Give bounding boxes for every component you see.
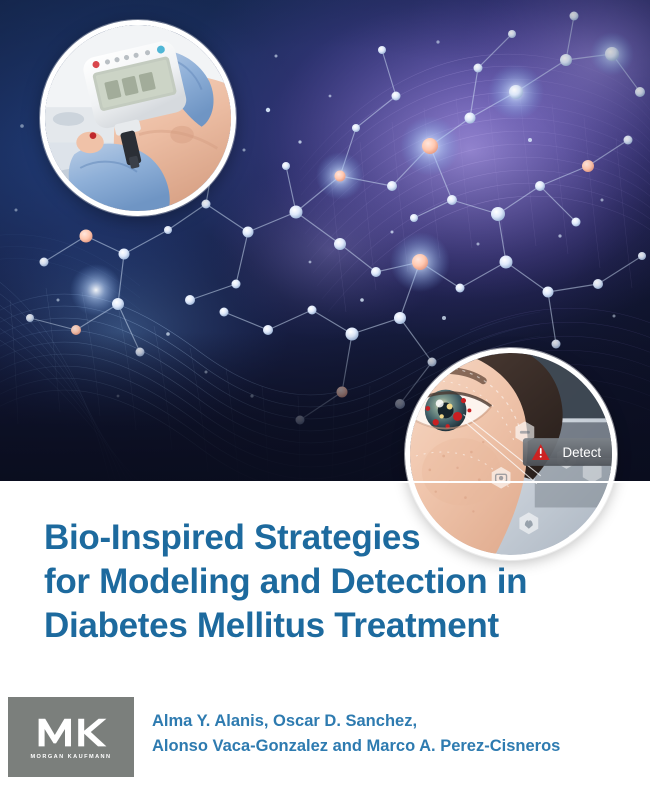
glucose-meter-photo-inset — [40, 20, 236, 216]
detect-badge: Detect — [523, 438, 612, 466]
title-line-3: Diabetes Mellitus Treatment — [44, 604, 624, 648]
author-line-1: Alma Y. Alanis, Oscar D. Sanchez, — [152, 709, 650, 734]
publisher-name: MORGAN KAUFMANN — [30, 754, 111, 760]
glucose-meter-illustration — [45, 25, 231, 211]
book-title: Bio-Inspired Strategies for Modeling and… — [44, 516, 624, 648]
cover-footer: MORGAN KAUFMANN Alma Y. Alanis, Oscar D.… — [0, 697, 650, 777]
author-list: Alma Y. Alanis, Oscar D. Sanchez, Alonso… — [152, 709, 650, 759]
mk-monogram-icon — [35, 715, 107, 749]
title-line-1: Bio-Inspired Strategies — [44, 516, 624, 560]
title-line-2: for Modeling and Detection in — [44, 560, 624, 604]
art-text-divider — [0, 481, 650, 483]
detect-badge-label: Detect — [562, 445, 601, 460]
author-line-2: Alonso Vaca-Gonzalez and Marco A. Perez-… — [152, 734, 650, 759]
book-cover: Detect Bio-Inspired Strategies for Model… — [0, 0, 650, 800]
publisher-logo: MORGAN KAUFMANN — [8, 697, 134, 777]
